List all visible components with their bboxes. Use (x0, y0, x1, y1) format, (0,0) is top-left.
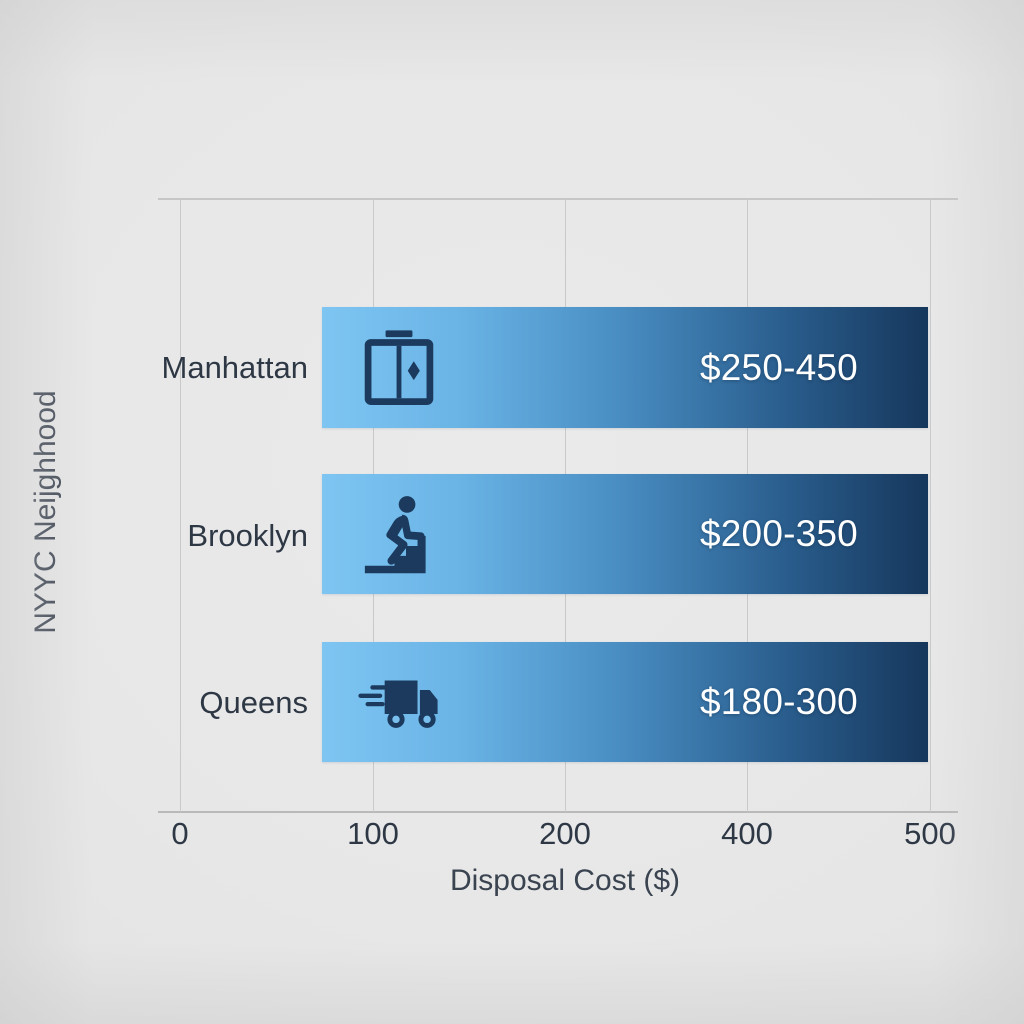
xtick-100: 100 (347, 816, 399, 852)
xtick-0: 0 (171, 816, 188, 852)
person-climbing-stairs-icon (356, 491, 442, 577)
bar-manhattan[interactable]: $250-450 (322, 307, 928, 428)
bar-value-queens: $180-300 (700, 681, 858, 723)
bar-value-brooklyn: $200-350 (700, 513, 858, 555)
x-axis-label: Disposal Cost ($) (450, 864, 680, 898)
elevator-icon (356, 325, 442, 411)
delivery-truck-icon (356, 659, 442, 745)
xtick-400: 400 (721, 816, 773, 852)
y-axis-label: NYYC Neijghhood (29, 390, 63, 633)
xtick-500: 500 (904, 816, 956, 852)
ytick-queens: Queens (0, 685, 308, 721)
bar-queens[interactable]: $180-300 (322, 642, 928, 762)
bar-value-manhattan: $250-450 (700, 347, 858, 389)
bar-brooklyn[interactable]: $200-350 (322, 474, 928, 594)
gridline-500 (930, 198, 931, 812)
chart-figure: $250-450 $200-350 (0, 0, 1024, 1024)
ytick-manhattan: Manhattan (0, 350, 308, 386)
xtick-200: 200 (539, 816, 591, 852)
